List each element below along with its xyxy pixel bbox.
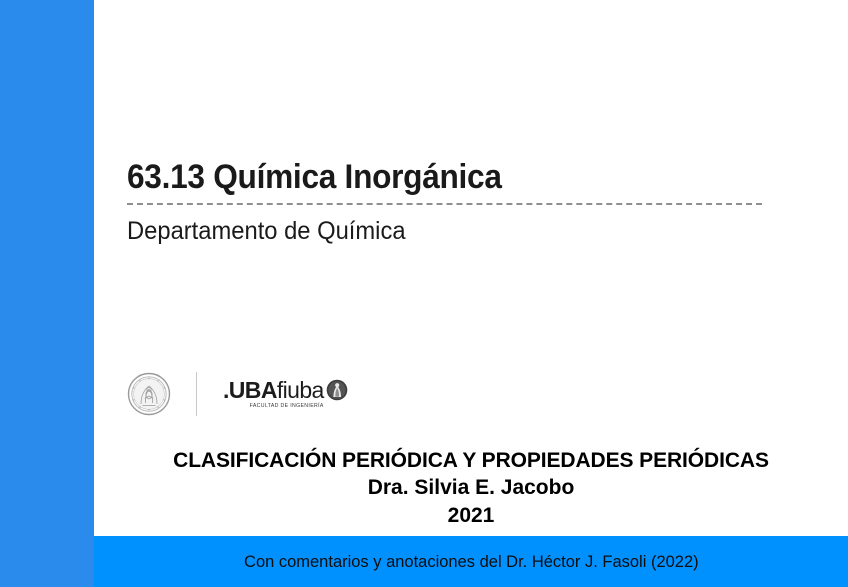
footer-banner: Con comentarios y anotaciones del Dr. Hé… — [94, 536, 848, 587]
slide-header: 63.13 Química Inorgánica Departamento de… — [127, 157, 787, 246]
department-subtitle: Departamento de Química — [127, 216, 754, 246]
fiuba-uba-text: UBA — [229, 377, 277, 403]
fiuba-fiuba-text: fiuba — [277, 377, 324, 403]
fiuba-wordmark: .UBAfiuba — [223, 378, 324, 402]
subject-title: CLASIFICACIÓN PERIÓDICA Y PROPIEDADES PE… — [94, 447, 848, 474]
fiuba-wordmark-row: .UBAfiuba — [223, 378, 348, 402]
uba-seal-icon — [127, 372, 171, 416]
year-label: 2021 — [94, 502, 848, 530]
fiuba-emblem-icon — [326, 379, 348, 401]
author-name: Dra. Silvia E. Jacobo — [94, 474, 848, 502]
left-blue-band — [0, 0, 94, 587]
footer-note: Con comentarios y anotaciones del Dr. Hé… — [244, 551, 699, 573]
subject-block: CLASIFICACIÓN PERIÓDICA Y PROPIEDADES PE… — [94, 447, 848, 530]
logo-divider — [196, 372, 197, 416]
course-title: 63.13 Química Inorgánica — [127, 157, 741, 197]
presentation-slide: 63.13 Química Inorgánica Departamento de… — [0, 0, 848, 587]
institutional-logos: .UBAfiuba FACULTAD DE INGENIERÍA — [127, 371, 348, 417]
title-dashed-rule — [127, 203, 762, 205]
fiuba-subtitle: FACULTAD DE INGENIERÍA — [250, 403, 324, 410]
fiuba-logo: .UBAfiuba FACULTAD DE INGENIERÍA — [223, 378, 348, 410]
